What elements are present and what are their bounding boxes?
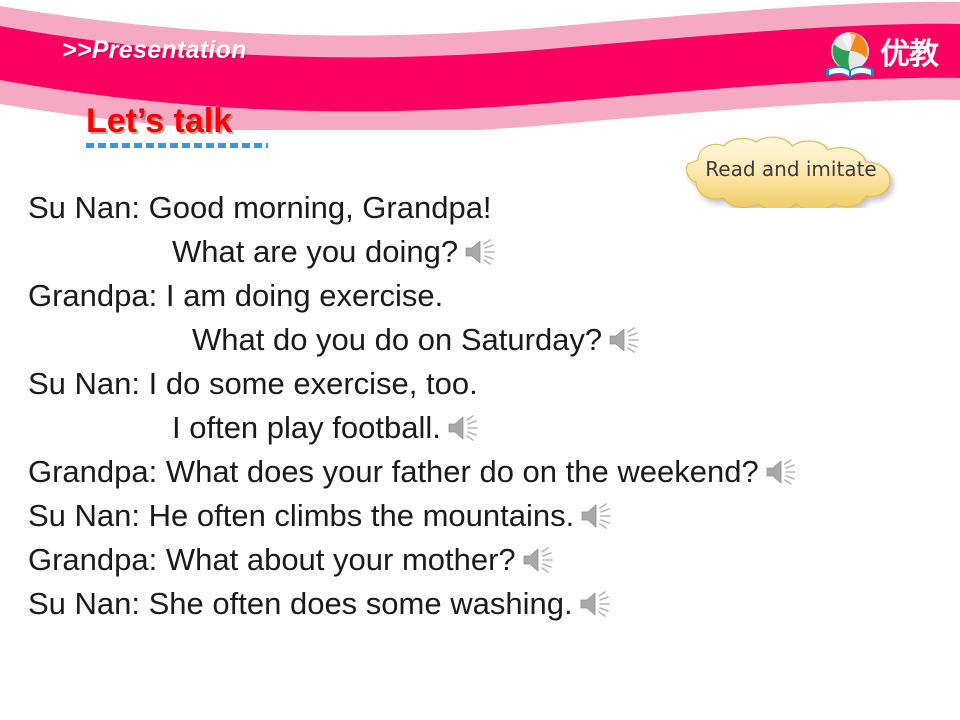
pinwheel-book-logo-icon xyxy=(822,27,878,83)
speaker-audio-icon[interactable] xyxy=(579,590,613,618)
dialogue-text: Grandpa: What does your father do on the… xyxy=(28,455,759,489)
speaker-audio-icon[interactable] xyxy=(522,546,556,574)
dialogue-text: Su Nan: I do some exercise, too. xyxy=(28,367,478,401)
section-heading-group: Let’s talk xyxy=(86,104,268,148)
banner-title: >>Presentation xyxy=(62,36,247,65)
dialogue-line: Su Nan: I do some exercise, too. xyxy=(0,362,960,406)
dialogue-text: I often play football. xyxy=(172,411,441,445)
speaker-audio-icon[interactable] xyxy=(765,458,799,486)
page-title: Let’s talk xyxy=(86,104,268,140)
speaker-audio-icon[interactable] xyxy=(447,414,481,442)
speaker-audio-icon[interactable] xyxy=(464,238,498,266)
dialogue-line: Grandpa: What does your father do on the… xyxy=(0,450,960,494)
dialogue-line: Grandpa: What about your mother? xyxy=(0,538,960,582)
logo-text: 优教 xyxy=(880,40,938,70)
dialogue-line: Su Nan: Good morning, Grandpa! xyxy=(0,186,960,230)
dialogue-line: Su Nan: He often climbs the mountains. xyxy=(0,494,960,538)
dialogue-text: Grandpa: I am doing exercise. xyxy=(28,279,443,313)
dialogue-text: What are you doing? xyxy=(172,235,458,269)
speaker-audio-icon[interactable] xyxy=(608,326,642,354)
dialogue-line: Grandpa: I am doing exercise. xyxy=(0,274,960,318)
brand-logo: 优教 xyxy=(822,26,950,84)
dialogue-text: Su Nan: Good morning, Grandpa! xyxy=(28,191,492,225)
dialogue-text: Su Nan: She often does some washing. xyxy=(28,587,573,621)
heading-dotted-underline xyxy=(86,143,268,148)
speaker-audio-icon[interactable] xyxy=(580,502,614,530)
dialogue-block: Su Nan: Good morning, Grandpa!What are y… xyxy=(0,186,960,626)
dialogue-text: What do you do on Saturday? xyxy=(192,323,602,357)
dialogue-text: Su Nan: He often climbs the mountains. xyxy=(28,499,574,533)
dialogue-line: I often play football. xyxy=(0,406,960,450)
dialogue-text: Grandpa: What about your mother? xyxy=(28,543,516,577)
dialogue-line: What are you doing? xyxy=(0,230,960,274)
dialogue-line: Su Nan: She often does some washing. xyxy=(0,582,960,626)
dialogue-line: What do you do on Saturday? xyxy=(0,318,960,362)
